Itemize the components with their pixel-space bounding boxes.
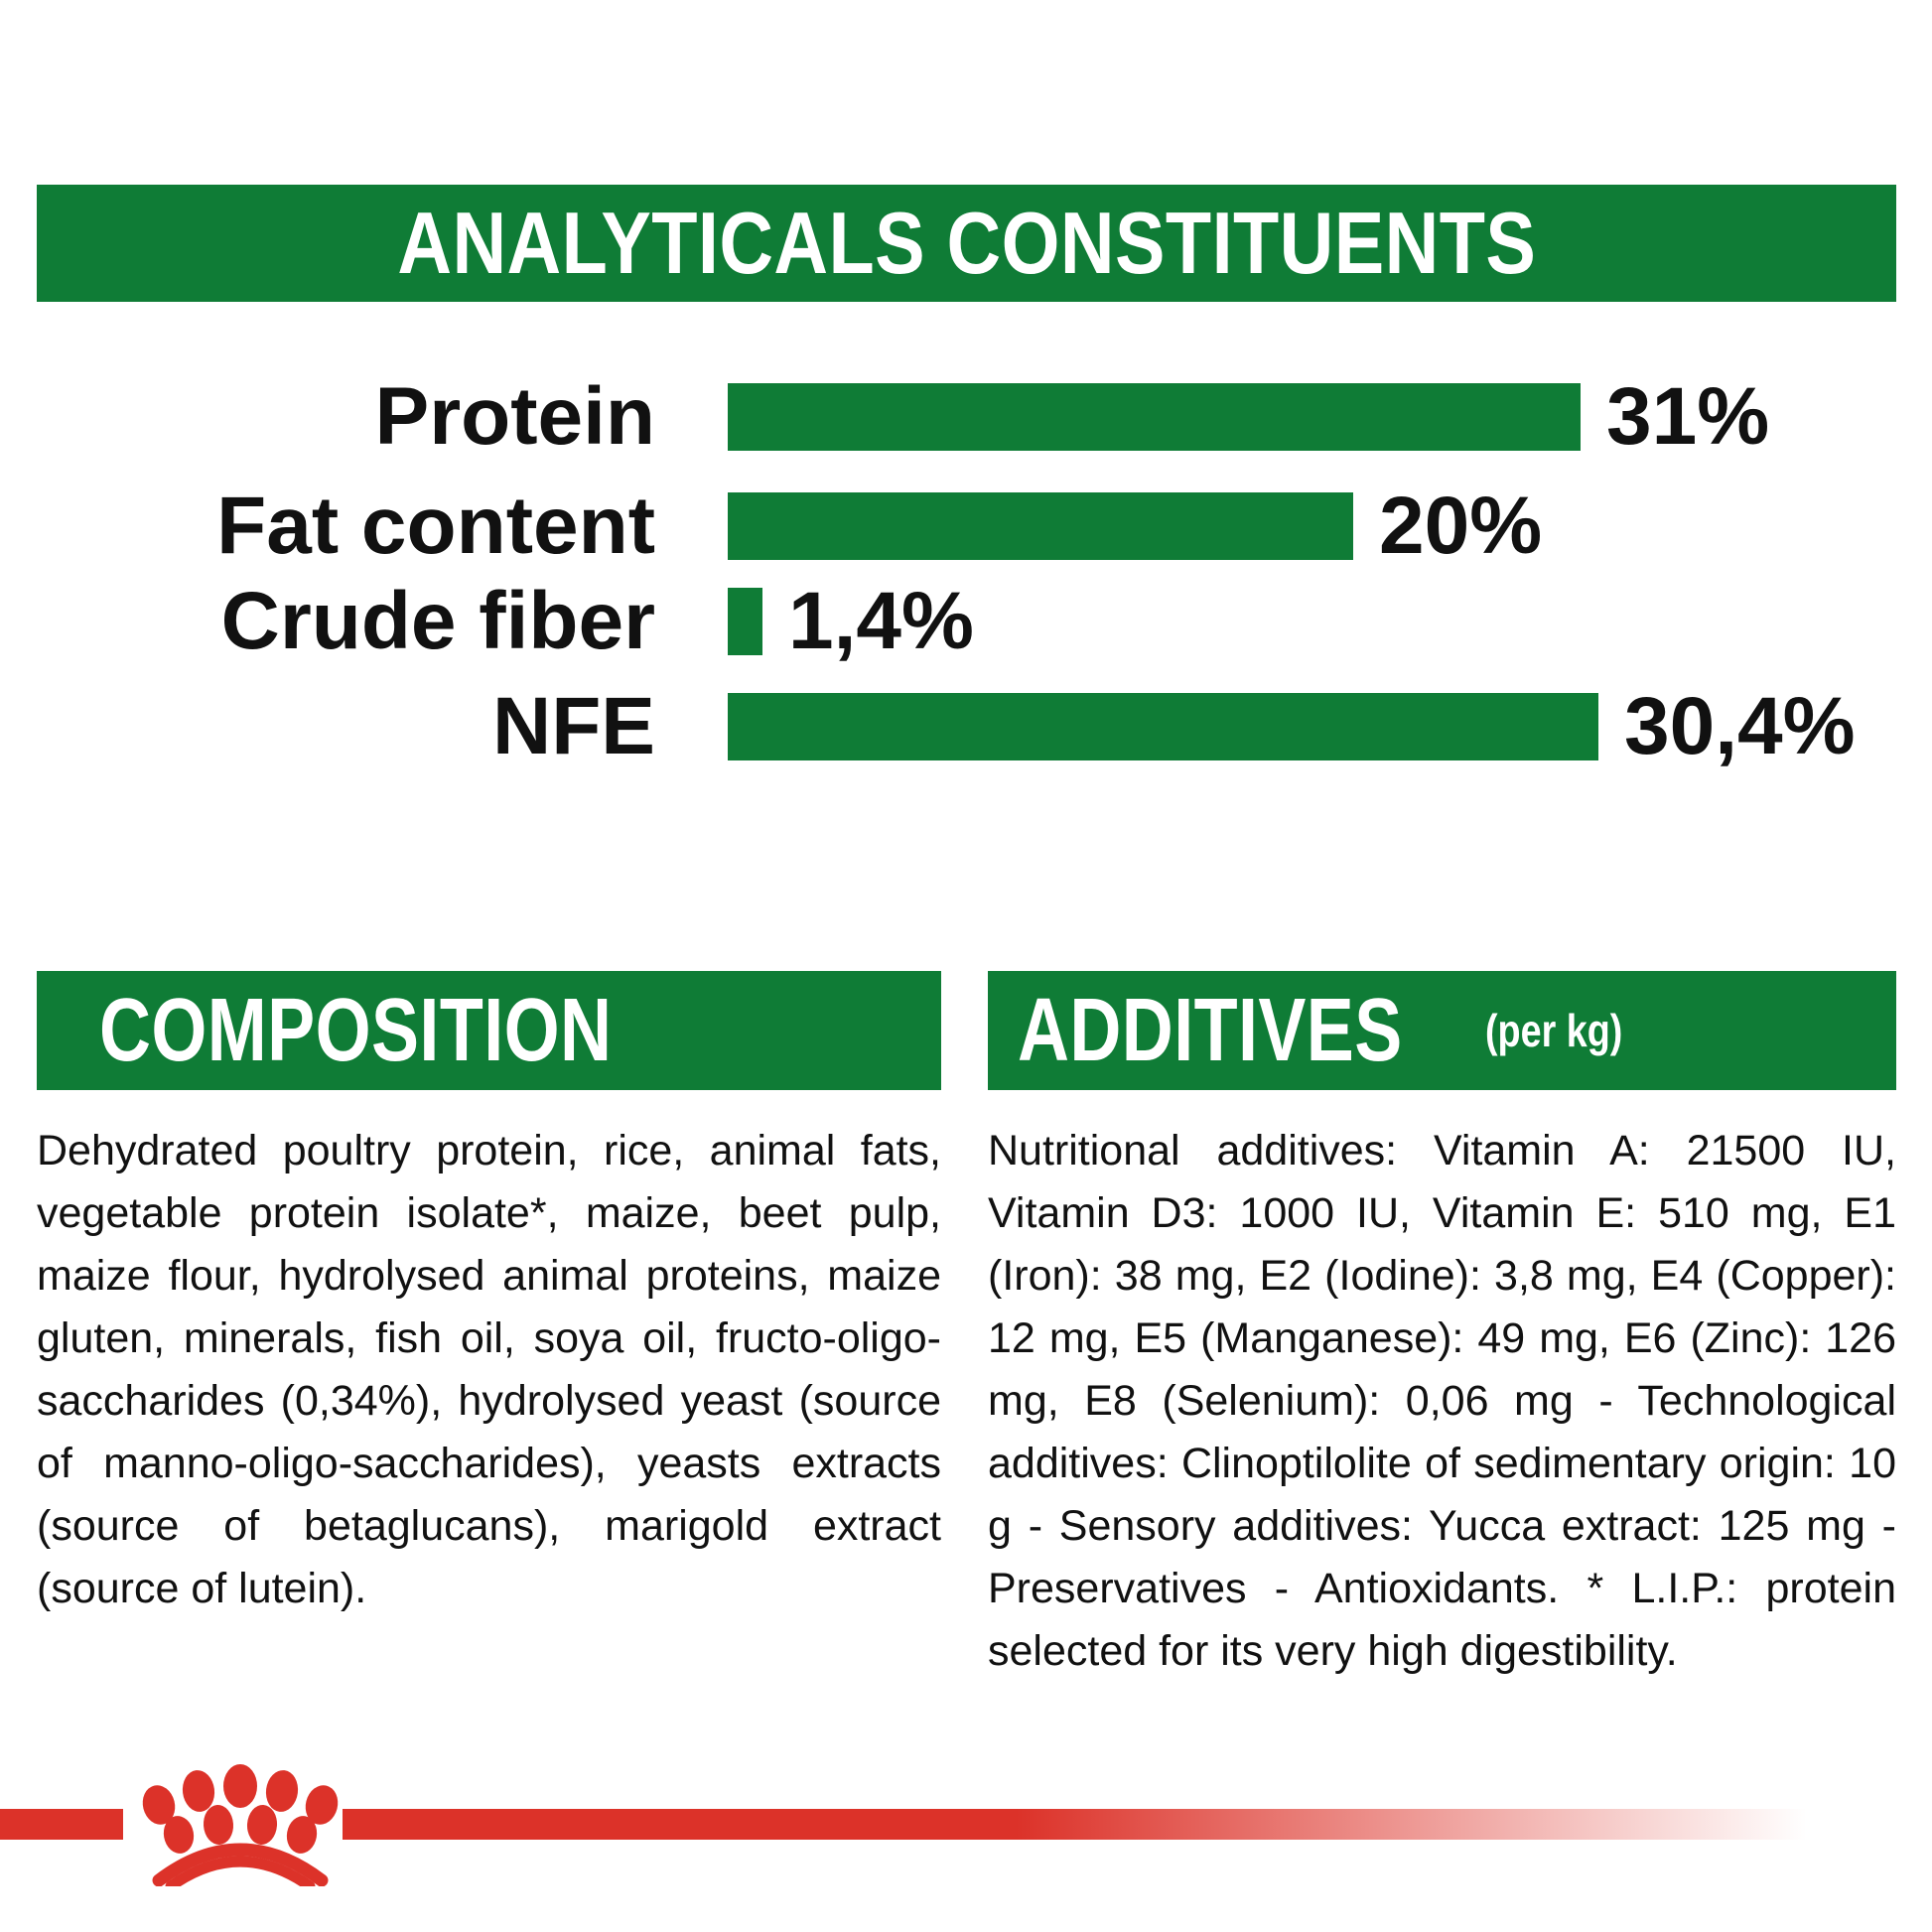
royal-canin-crown-icon [131, 1757, 349, 1886]
additives-header-subtitle: (per kg) [1485, 1004, 1622, 1057]
chart-row-fat-content: Fat content 20% [0, 477, 1932, 576]
footer-rule-left [0, 1809, 123, 1840]
analyticals-header-band: ANALYTICALS CONSTITUENTS [37, 185, 1896, 302]
bar-value-protein: 31% [1606, 376, 1769, 458]
composition-header-title: COMPOSITION [99, 980, 612, 1082]
additives-body-text: Nutritional additives: Vitamin A: 21500 … [988, 1120, 1896, 1683]
analyticals-bar-chart: Protein 31% Fat content 20% Crude fiber … [0, 367, 1932, 864]
additives-header-title: ADDITIVES [1018, 980, 1403, 1082]
analyticals-header-title: ANALYTICALS CONSTITUENTS [397, 193, 1536, 294]
bar-label-protein: Protein [0, 376, 655, 458]
bar-track-nfe: 30,4% [728, 677, 1932, 776]
footer [0, 1757, 1932, 1932]
bar-label-fat-content: Fat content [0, 485, 655, 567]
bar-fill-nfe [728, 693, 1598, 760]
bar-fill-fat-content [728, 492, 1353, 560]
composition-body-text: Dehydrated poultry protein, rice, animal… [37, 1120, 941, 1620]
bar-label-nfe: NFE [0, 686, 655, 767]
chart-row-crude-fiber: Crude fiber 1,4% [0, 572, 1932, 671]
bar-value-nfe: 30,4% [1624, 686, 1856, 767]
footer-rule-right [343, 1809, 1807, 1840]
bar-value-crude-fiber: 1,4% [788, 581, 974, 662]
bar-track-protein: 31% [728, 367, 1932, 467]
chart-row-protein: Protein 31% [0, 367, 1932, 467]
bar-fill-protein [728, 383, 1581, 451]
bar-track-crude-fiber: 1,4% [728, 572, 1932, 671]
chart-row-nfe: NFE 30,4% [0, 677, 1932, 776]
bar-fill-crude-fiber [728, 588, 762, 655]
additives-header-band: ADDITIVES (per kg) [988, 971, 1896, 1090]
bar-track-fat-content: 20% [728, 477, 1932, 576]
bar-value-fat-content: 20% [1379, 485, 1542, 567]
composition-header-band: COMPOSITION [37, 971, 941, 1090]
bar-label-crude-fiber: Crude fiber [0, 581, 655, 662]
